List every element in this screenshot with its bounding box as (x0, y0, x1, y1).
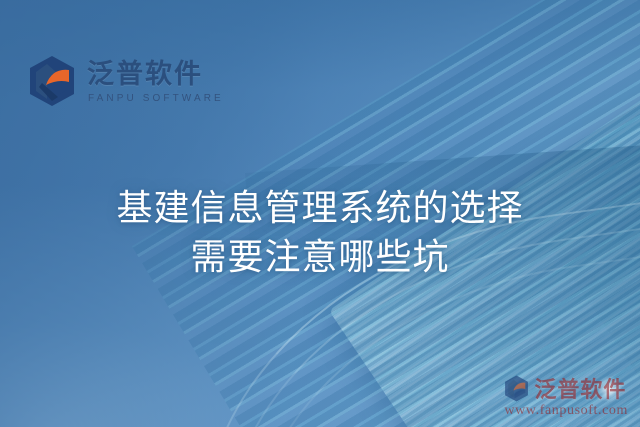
headline-line-2: 需要注意哪些坑 (0, 233, 640, 282)
brand-logo: 泛普软件 FANPU SOFTWARE (28, 55, 224, 107)
fanpu-hexagon-logo-icon (28, 55, 76, 107)
brand-name-en: FANPU SOFTWARE (87, 93, 224, 104)
watermark-url: www.fanpusoft.com (504, 403, 630, 419)
watermark: 泛普软件 www.fanpusoft.com (504, 372, 630, 419)
fanpu-hexagon-logo-icon (504, 375, 529, 402)
headline-line-1: 基建信息管理系统的选择 (0, 184, 640, 233)
watermark-name-cn: 泛普软件 (534, 372, 626, 404)
brand-wordmark: 泛普软件 FANPU SOFTWARE (87, 58, 224, 103)
brand-name-cn: 泛普软件 (87, 60, 224, 89)
promo-banner: 泛普软件 FANPU SOFTWARE 基建信息管理系统的选择 需要注意哪些坑 … (0, 0, 640, 427)
headline: 基建信息管理系统的选择 需要注意哪些坑 (0, 184, 640, 282)
watermark-row: 泛普软件 (504, 372, 630, 404)
